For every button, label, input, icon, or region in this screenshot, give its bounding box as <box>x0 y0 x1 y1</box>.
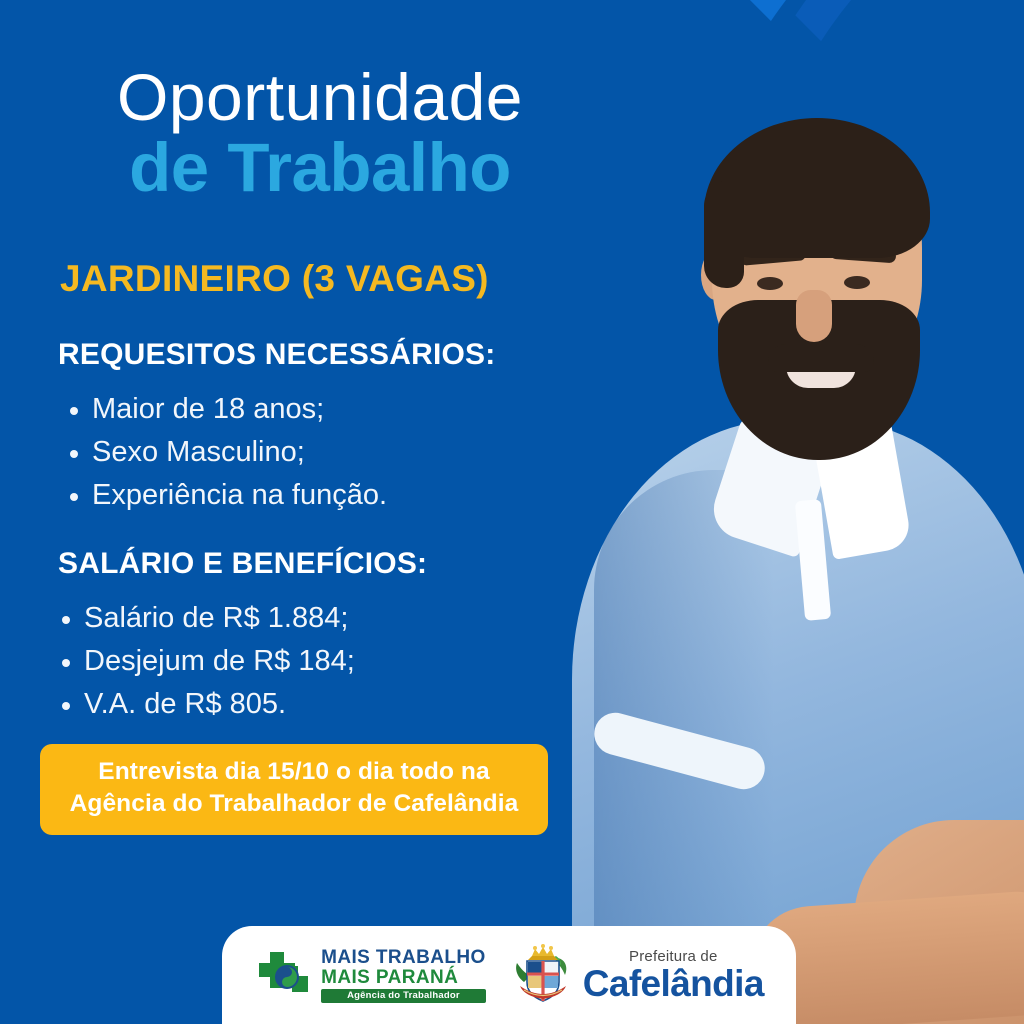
eye-right <box>844 276 870 289</box>
logo-line-prefeitura: Prefeitura de <box>583 949 764 964</box>
headline-line-1: Oportunidade <box>0 64 640 132</box>
headline-line-2: de Trabalho <box>0 132 640 204</box>
list-item: Experiência na função. <box>48 474 618 517</box>
logo-mais-trabalho-text: MAIS TRABALHO MAIS PARANÁ Agência do Tra… <box>321 948 486 1003</box>
moustache <box>768 344 874 372</box>
benefits-list: Salário de R$ 1.884; Desjejum de R$ 184;… <box>48 597 618 726</box>
logo-mais-trabalho-mais-parana: MAIS TRABALHO MAIS PARANÁ Agência do Tra… <box>254 946 486 1004</box>
cta-line-1: Entrevista dia 15/10 o dia todo na <box>50 756 538 788</box>
nose <box>796 290 832 342</box>
job-title: JARDINEIRO (3 VAGAS) <box>60 258 618 300</box>
logo-line-agencia: Agência do Trabalhador <box>321 989 486 1003</box>
coat-of-arms-icon <box>512 942 574 1008</box>
list-item: Maior de 18 anos; <box>48 388 618 431</box>
logo-line-mais-trabalho: MAIS TRABALHO <box>321 948 486 967</box>
benefits-heading: SALÁRIO E BENEFÍCIOS: <box>58 547 618 581</box>
poster-content: JARDINEIRO (3 VAGAS) REQUESITOS NECESSÁR… <box>48 258 618 755</box>
logo-cafelandia-text: Prefeitura de Cafelândia <box>583 949 764 1002</box>
footer-logo-panel: MAIS TRABALHO MAIS PARANÁ Agência do Tra… <box>222 926 796 1024</box>
list-item: Sexo Masculino; <box>48 431 618 474</box>
list-item: V.A. de R$ 805. <box>48 683 618 726</box>
list-item: Salário de R$ 1.884; <box>48 597 618 640</box>
job-opportunity-poster: Oportunidade de Trabalho JARDINEIRO (3 V… <box>0 0 1024 1024</box>
logo-line-cafelandia: Cafelândia <box>583 965 764 1002</box>
cta-line-2: Agência do Trabalhador de Cafelândia <box>50 788 538 820</box>
interview-cta-banner: Entrevista dia 15/10 o dia todo na Agênc… <box>40 744 548 835</box>
list-item: Desjejum de R$ 184; <box>48 640 618 683</box>
logo-prefeitura-cafelandia: Prefeitura de Cafelândia <box>512 942 764 1008</box>
requirements-list: Maior de 18 anos; Sexo Masculino; Experi… <box>48 388 618 517</box>
poster-headline: Oportunidade de Trabalho <box>0 64 640 204</box>
eye-left <box>757 277 783 290</box>
logo-line-mais-parana: MAIS PARANÁ <box>321 968 486 987</box>
requirements-heading: REQUESITOS NECESSÁRIOS: <box>58 338 618 372</box>
hair-sideburn <box>704 180 744 288</box>
cross-puzzle-icon <box>254 946 314 1004</box>
